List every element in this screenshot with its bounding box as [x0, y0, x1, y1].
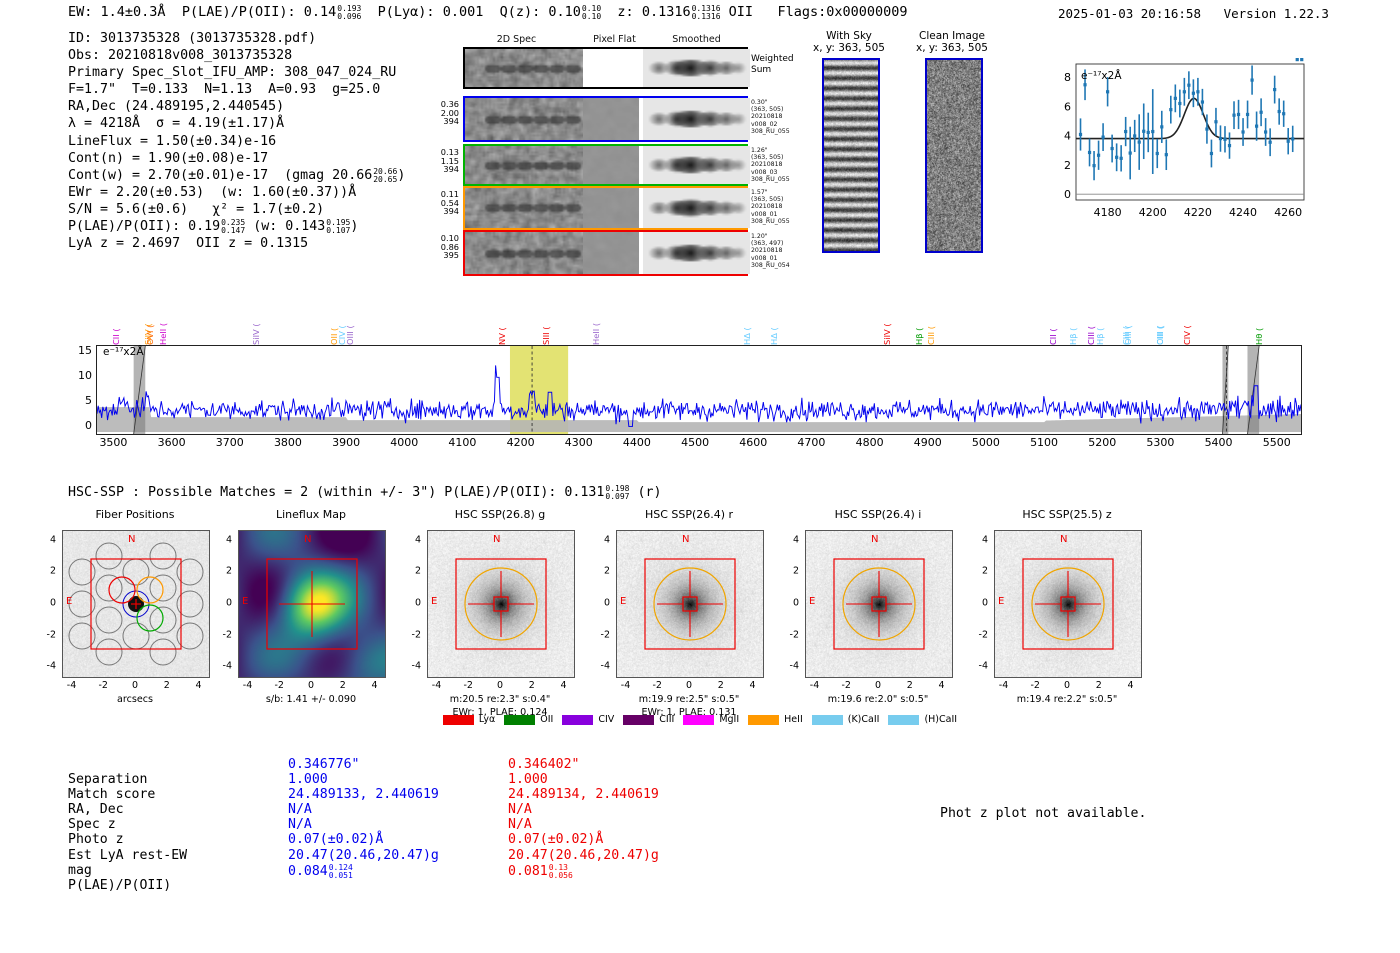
match-row-value: N/A: [288, 817, 312, 832]
panel-x-tick: -2: [99, 680, 108, 691]
panel-x-tick: 0: [686, 680, 692, 691]
plae-value: 0.14: [304, 4, 337, 20]
panel-y-tick: -2: [40, 629, 56, 640]
panel-y-tick: -4: [40, 661, 56, 672]
spectrum-x-tick: 5300: [1146, 436, 1174, 449]
legend-swatch: [888, 715, 919, 725]
panel-x-tick: 0: [308, 680, 314, 691]
cutout-overlay: [806, 531, 952, 677]
cutout-panel-title: HSC SSP(26.4) r: [616, 508, 762, 521]
z-value: 0.1316: [642, 4, 691, 20]
photoz-note: Phot z plot not available.: [940, 806, 1146, 821]
compass-north: N: [304, 534, 311, 545]
svg-text:4200: 4200: [1139, 206, 1167, 219]
spectrum-x-tick: 5000: [972, 436, 1000, 449]
svg-text:4260: 4260: [1274, 206, 1302, 219]
ew-label: EW:: [68, 4, 92, 20]
spectrum-y-tick: 10: [66, 369, 92, 382]
z-uncertainty: 0.13160.1316: [692, 5, 721, 21]
cutout-panel-1: Lineflux MapNE-4-4-2-2002244s/b: 1.41 +/…: [238, 530, 384, 676]
panel-caption-secondary: EWr: 1, PLAE: 0.131: [594, 707, 784, 719]
emission-line-label: CIII (: [926, 271, 936, 345]
match-row-value: 20.47(20.46,20.47)g: [508, 848, 659, 863]
timestamp: 2025-01-03 20:16:58: [1058, 6, 1201, 21]
qz-value: 0.10: [548, 4, 581, 20]
emission-line-label: CIII (: [1155, 271, 1165, 345]
panel-x-tick: 0: [1064, 680, 1070, 691]
panel-y-tick: 0: [405, 598, 421, 609]
panel-y-tick: 4: [405, 534, 421, 545]
line-fit-plot: 0246841804200422042404260e⁻¹⁷x2Å: [1040, 58, 1308, 226]
emission-line-label: SIII (: [541, 311, 551, 345]
panel-y-tick: 4: [216, 534, 232, 545]
panel-x-tick: 4: [1127, 680, 1133, 691]
cutout-panel-image: [994, 530, 1142, 678]
match-row-value: 0.07(±0.02)Å: [508, 832, 603, 847]
cutout-panel-5: HSC SSP(25.5) zNE-4-4-2-2002244m:19.4 re…: [994, 530, 1140, 676]
spec2d-gap: [639, 146, 643, 184]
panel-y-tick: 2: [216, 566, 232, 577]
match-row-value: N/A: [508, 817, 532, 832]
match-row-label: Match score: [68, 787, 155, 802]
match-row-label: P(LAE)/P(OII): [68, 878, 171, 893]
info-line-sn-chi2: S/N = 5.6(±0.6) χ² = 1.7(±0.2): [68, 201, 405, 218]
spec2d-strip-row: [463, 144, 748, 186]
cutout-panel-4: HSC SSP(26.4) iNE-4-4-2-2002244m:19.6 re…: [805, 530, 951, 676]
spec2d-row-meta: 0.30"(363, 505)20210818v008_02308_RU_055: [751, 99, 790, 135]
panel-x-tick: -2: [464, 680, 473, 691]
spec2d-row-meta: 1.26"(363, 505)20210818v008_03308_RU_055: [751, 147, 790, 183]
cutout-panel-image: [805, 530, 953, 678]
spectrum-y-tick: 0: [66, 419, 92, 432]
match-row-value: 1.000: [288, 772, 328, 787]
panel-x-tick: -2: [275, 680, 284, 691]
match-row-value: 24.489134, 2.440619: [508, 787, 659, 802]
emission-line-label: SiIV (: [882, 311, 892, 345]
match-row-value: 0.346776": [288, 757, 359, 772]
cutout-title-text: With Sky: [826, 30, 872, 42]
panel-x-tick: 4: [371, 680, 377, 691]
spectrum-x-tick: 5200: [1088, 436, 1116, 449]
info-line-radec: RA,Dec (24.489195,2.440545): [68, 98, 405, 115]
plae-uncertainty: 0.1930.096: [337, 5, 361, 21]
spec2d-gap: [639, 188, 643, 228]
spectrum-y-tick: 5: [66, 394, 92, 407]
qz-label: Q(z):: [500, 4, 541, 20]
cutout-overlay: [63, 531, 209, 677]
compass-east: E: [242, 596, 248, 607]
panel-caption-primary: m:19.9 re:2.5" s:0.5": [594, 694, 784, 706]
legend-label: (H)CaII: [924, 714, 957, 725]
spectrum-x-tick: 4500: [681, 436, 709, 449]
svg-text:8: 8: [1064, 71, 1071, 84]
spectrum-x-tick: 3600: [158, 436, 186, 449]
emission-line-label: NV (: [497, 311, 507, 345]
emission-line-label: HeII (: [591, 311, 601, 345]
flags-label: Flags:0x00000009: [777, 4, 907, 20]
match-row-value: 24.489133, 2.440619: [288, 787, 439, 802]
spectrum-x-tick: 4900: [914, 436, 942, 449]
emission-line-label: OVI (: [145, 311, 155, 345]
panel-y-tick: -2: [783, 629, 799, 640]
emission-line-label: CII (: [111, 311, 121, 345]
gmag-uncertainty: 20.6620.65: [373, 168, 397, 184]
panel-y-tick: -2: [216, 629, 232, 640]
svg-text:4220: 4220: [1184, 206, 1212, 219]
spectrum-x-tick: 4800: [856, 436, 884, 449]
panel-y-tick: 4: [972, 534, 988, 545]
info-line-params: F=1.7" T=0.133 N=1.13 A=0.93 g=25.0: [68, 81, 405, 98]
info-line-obs: Obs: 20210818v008_3013735328: [68, 47, 405, 64]
emission-line-label: HΔ (: [742, 311, 752, 345]
panel-x-tick: 4: [195, 680, 201, 691]
hsc-headline-text: HSC-SSP : Possible Matches = 2 (within +…: [68, 485, 604, 500]
spec2d-strip-row: [463, 96, 748, 142]
panel-caption-primary: m:19.4 re:2.2" s:0.5": [972, 694, 1162, 706]
hsc-headline-band: (r): [637, 485, 661, 500]
target-info-block: ID: 3013735328 (3013735328.pdf) Obs: 202…: [68, 30, 405, 253]
compass-east: E: [998, 596, 1004, 607]
cutout-panel-2: HSC SSP(26.8) gNE-4-4-2-2002244m:20.5 re…: [427, 530, 573, 676]
spec2d-raw-strip: [465, 49, 583, 87]
cutout-panel-image: [238, 530, 386, 678]
compass-east: E: [66, 596, 72, 607]
panel-y-tick: 2: [783, 566, 799, 577]
panel-x-tick: 0: [875, 680, 881, 691]
panel-x-tick: -4: [999, 680, 1008, 691]
panel-x-tick: 2: [529, 680, 535, 691]
match-row-value: 20.47(20.46,20.47)g: [288, 848, 439, 863]
compass-north: N: [1060, 534, 1067, 545]
emission-line-label: CIV (: [1182, 311, 1192, 345]
panel-y-tick: 2: [972, 566, 988, 577]
panel-x-tick: 2: [340, 680, 346, 691]
panel-x-tick: -4: [243, 680, 252, 691]
panel-y-tick: -4: [972, 661, 988, 672]
panel-x-tick: -4: [810, 680, 819, 691]
legend-swatch: [812, 715, 843, 725]
header-summary-line: EW: 1.4±0.3Å P(LAE)/P(OII): 0.140.1930.0…: [68, 4, 907, 20]
panel-x-tick: 2: [164, 680, 170, 691]
two-d-spectrum-panels: 2D SpecPixel FlatSmoothedWeightedSum0.36…: [425, 34, 755, 249]
legend-item: (K)CaII: [812, 714, 880, 725]
info-plae-w-uncertainty: 0.1950.107: [326, 219, 350, 235]
compass-north: N: [682, 534, 689, 545]
cutout-panel-title: HSC SSP(26.4) i: [805, 508, 951, 521]
header-timestamp-version: 2025-01-03 20:16:58 Version 1.22.3: [1058, 6, 1329, 21]
panel-y-tick: -4: [594, 661, 610, 672]
panel-y-tick: 2: [405, 566, 421, 577]
spectrum-flux-annotation: e⁻¹⁷x2Å: [103, 346, 144, 358]
svg-text:6: 6: [1064, 100, 1071, 113]
plya-label: P(Lyα):: [378, 4, 435, 20]
emission-line-label: CIII (: [1121, 271, 1131, 345]
info-line-id: ID: 3013735328 (3013735328.pdf): [68, 30, 405, 47]
match-row-value: 0.0810.130.056: [508, 863, 573, 879]
emission-line-label: HeII (: [158, 311, 168, 345]
panel-x-tick: -2: [1031, 680, 1040, 691]
weighted-sum-label: WeightedSum: [751, 54, 794, 76]
legend-label: HeII: [784, 714, 803, 725]
spec2d-gap: [639, 98, 643, 140]
emission-line-label: Hβ (: [1095, 311, 1105, 345]
panel-y-tick: 4: [783, 534, 799, 545]
info-line-cont-w: Cont(w) = 2.70(±0.01)e-17 (gmag 20.6620.…: [68, 167, 405, 184]
cutout-panel-title: HSC SSP(26.8) g: [427, 508, 573, 521]
spec2d-smoothed-strip: [643, 49, 750, 87]
spec2d-smoothed-strip: [643, 188, 750, 228]
panel-y-tick: -2: [405, 629, 421, 640]
spec2d-strip-row: [463, 186, 748, 230]
info-line-primary-spec: Primary Spec_Slot_IFU_AMP: 308_047_024_R…: [68, 64, 405, 81]
panel-x-tick: 4: [938, 680, 944, 691]
spec2d-gap: [639, 49, 643, 87]
panel-y-tick: -4: [216, 661, 232, 672]
info-plae-uncertainty: 0.2350.147: [221, 219, 245, 235]
match-row-label: mag: [68, 863, 92, 878]
info-line-plae: P(LAE)/P(OII): 0.190.2350.147 (w: 0.1430…: [68, 218, 405, 235]
panel-x-tick: -2: [653, 680, 662, 691]
spec2d-column-title: Smoothed: [669, 34, 724, 45]
panel-x-tick: 2: [907, 680, 913, 691]
spec2d-smoothed-strip: [643, 146, 750, 184]
spectrum-trace-svg: [97, 346, 1301, 434]
spec2d-pixel-flat-strip: [583, 98, 643, 140]
cutout-coords: x, y: 363, 505: [813, 42, 885, 54]
panel-x-tick: -2: [842, 680, 851, 691]
cutout-panel-3: HSC SSP(26.4) rNE-4-4-2-2002244m:19.9 re…: [616, 530, 762, 676]
panel-y-tick: 4: [594, 534, 610, 545]
spectrum-x-tick: 4700: [797, 436, 825, 449]
hsc-plae-uncertainty: 0.1980.097: [605, 485, 629, 501]
svg-text:2: 2: [1064, 159, 1071, 172]
legend-item: (H)CaII: [888, 714, 957, 725]
hsc-ssp-headline: HSC-SSP : Possible Matches = 2 (within +…: [68, 484, 662, 500]
full-spectrum-panel: LyαOIICIVCIIIMgIIHeII(K)CaII(H)CaII 0510…: [0, 268, 1400, 468]
panel-y-tick: 2: [594, 566, 610, 577]
cutout-overlay: [995, 531, 1141, 677]
spectrum-x-tick: 5100: [1030, 436, 1058, 449]
emission-line-label: OIII (: [345, 311, 355, 345]
spectrum-x-tick: 3500: [99, 436, 127, 449]
z-species: OII: [729, 4, 753, 20]
match-row-value: N/A: [508, 802, 532, 817]
spec2d-smoothed-strip: [643, 98, 750, 140]
match-row-label: Spec z: [68, 817, 116, 832]
spectrum-x-tick: 5400: [1205, 436, 1233, 449]
panel-caption-primary: m:19.6 re:2.0" s:0.5": [783, 694, 973, 706]
svg-text:4: 4: [1064, 130, 1071, 143]
cutout-panel-image: [616, 530, 764, 678]
panel-y-tick: 0: [783, 598, 799, 609]
cutout-panel-image: [427, 530, 575, 678]
spectrum-y-tick: 15: [66, 344, 92, 357]
spec2d-raw-strip: [465, 146, 583, 184]
compass-north: N: [128, 534, 135, 545]
panel-y-tick: -4: [783, 661, 799, 672]
info-line-redshifts: LyA z = 2.4697 OII z = 0.1315: [68, 235, 405, 252]
compass-north: N: [871, 534, 878, 545]
spec2d-strip-row: [463, 47, 748, 89]
cutout-coords: x, y: 363, 505: [916, 42, 988, 54]
cutout-title: With Skyx, y: 363, 505: [794, 30, 904, 54]
info-line-ewr: EWr = 2.20(±0.53) (w: 1.60(±0.37))Å: [68, 184, 405, 201]
spec2d-column-title: Pixel Flat: [587, 34, 642, 45]
compass-east: E: [620, 596, 626, 607]
panel-x-tick: 0: [497, 680, 503, 691]
cutout-panel-title: HSC SSP(25.5) z: [994, 508, 1140, 521]
svg-text:0: 0: [1064, 188, 1071, 201]
legend-label: (K)CaII: [848, 714, 880, 725]
panel-y-tick: 0: [594, 598, 610, 609]
info-line-lambda-sigma: λ = 4218Å σ = 4.19(±1.17)Å: [68, 115, 405, 132]
emission-line-label: SiIV (: [251, 311, 261, 345]
cutout-panel-title: Lineflux Map: [238, 508, 384, 521]
spectrum-x-tick: 4400: [623, 436, 651, 449]
spec2d-raw-strip: [465, 98, 583, 140]
panel-caption-primary: s/b: 1.41 +/- 0.090: [216, 694, 406, 706]
panel-x-tick: -4: [621, 680, 630, 691]
panel-y-tick: 0: [972, 598, 988, 609]
cutout-title-text: Clean Image: [919, 30, 985, 42]
match-row-value: 0.0840.1240.051: [288, 863, 353, 879]
spec2d-raw-strip: [465, 188, 583, 228]
spectrum-x-tick: 4300: [565, 436, 593, 449]
cutout-image-clean: [925, 58, 983, 253]
svg-text:4180: 4180: [1094, 206, 1122, 219]
spectrum-x-tick: 4200: [507, 436, 535, 449]
match-row-value: N/A: [288, 802, 312, 817]
spec2d-pixel-flat-strip: [583, 49, 643, 87]
panel-y-tick: 0: [216, 598, 232, 609]
panel-y-tick: -4: [405, 661, 421, 672]
emission-line-label: Hβ (: [1068, 311, 1078, 345]
spec2d-row-stats: 0.110.54394: [425, 190, 459, 216]
emission-line-label: Hβ (: [914, 311, 924, 345]
panel-x-tick: 2: [718, 680, 724, 691]
spectrum-x-tick: 3800: [274, 436, 302, 449]
cutout-panel-title: Fiber Positions: [62, 508, 208, 521]
panel-caption-secondary: EWr: 1, PLAE: 0.124: [405, 707, 595, 719]
compass-north: N: [493, 534, 500, 545]
panel-x-tick: 4: [749, 680, 755, 691]
panel-y-tick: 4: [40, 534, 56, 545]
cutout-overlay: [617, 531, 763, 677]
emission-line-label: CII (: [1048, 311, 1058, 345]
spectrum-axes: [96, 345, 1302, 435]
qz-uncertainty: 0.100.10: [582, 5, 601, 21]
match-row-value: 0.346402": [508, 757, 579, 772]
match-row-label: Photo z: [68, 832, 124, 847]
spec2d-row-stats: 0.100.86395: [425, 234, 459, 260]
spectrum-x-tick: 4100: [448, 436, 476, 449]
plya-value: 0.001: [443, 4, 484, 20]
info-line-cont-n: Cont(n) = 1.90(±0.08)e-17: [68, 150, 405, 167]
panel-x-tick: -4: [67, 680, 76, 691]
z-label: z:: [617, 4, 633, 20]
match-row-value: 0.07(±0.02)Å: [288, 832, 383, 847]
match-row-value: 1.000: [508, 772, 548, 787]
plae-label: P(LAE)/P(OII):: [182, 4, 296, 20]
cutout-overlay: [428, 531, 574, 677]
emission-line-label: Hθ (: [1254, 311, 1264, 345]
spec2d-row-stats: 0.362.00394: [425, 100, 459, 126]
svg-text:4240: 4240: [1229, 206, 1257, 219]
panel-caption-primary: m:20.5 re:2.3" s:0.4": [405, 694, 595, 706]
panel-x-tick: 4: [560, 680, 566, 691]
compass-east: E: [809, 596, 815, 607]
panel-x-tick: 0: [132, 680, 138, 691]
panel-x-tick: -4: [432, 680, 441, 691]
cutout-overlay: [239, 531, 385, 677]
panel-y-tick: -2: [972, 629, 988, 640]
spectrum-x-tick: 3900: [332, 436, 360, 449]
spec2d-row-meta: 1.20"(363, 497)20210818v008_01308_RU_054: [751, 233, 790, 269]
svg-text:e⁻¹⁷x2Å: e⁻¹⁷x2Å: [1081, 69, 1122, 82]
line-fit-chart-svg: 0246841804200422042404260e⁻¹⁷x2Å: [1040, 58, 1308, 226]
spec2d-row-stats: 0.131.15394: [425, 148, 459, 174]
cutout-image-with-sky: [822, 58, 880, 253]
spec2d-row-meta: 1.57"(363, 505)20210818v008_01308_RU_055: [751, 189, 790, 225]
cutout-panel-image: [62, 530, 210, 678]
emission-line-label: HΔ (: [769, 311, 779, 345]
panel-caption-primary: arcsecs: [40, 694, 230, 706]
cutout-panel-0: Fiber PositionsNE-4-4-2-2002244arcsecs: [62, 530, 208, 676]
spec2d-pixel-flat-strip: [583, 146, 643, 184]
cutout-title: Clean Imagex, y: 363, 505: [897, 30, 1007, 54]
version: Version 1.22.3: [1224, 6, 1329, 21]
ew-value: 1.4±0.3Å: [101, 4, 166, 20]
match-row-label: RA, Dec: [68, 802, 124, 817]
match-row-label: Est LyA rest-EW: [68, 848, 187, 863]
panel-y-tick: 0: [40, 598, 56, 609]
spec2d-column-title: 2D Spec: [489, 34, 544, 45]
panel-x-tick: 2: [1096, 680, 1102, 691]
spectrum-x-tick: 3700: [216, 436, 244, 449]
spectrum-x-tick: 4000: [390, 436, 418, 449]
spectrum-x-tick: 5500: [1263, 436, 1291, 449]
spec2d-pixel-flat-strip: [583, 188, 643, 228]
info-line-lineflux: LineFlux = 1.50(±0.34)e-16: [68, 133, 405, 150]
spectrum-x-tick: 4600: [739, 436, 767, 449]
match-row-label: Separation: [68, 772, 147, 787]
compass-east: E: [431, 596, 437, 607]
panel-y-tick: -2: [594, 629, 610, 640]
panel-y-tick: 2: [40, 566, 56, 577]
